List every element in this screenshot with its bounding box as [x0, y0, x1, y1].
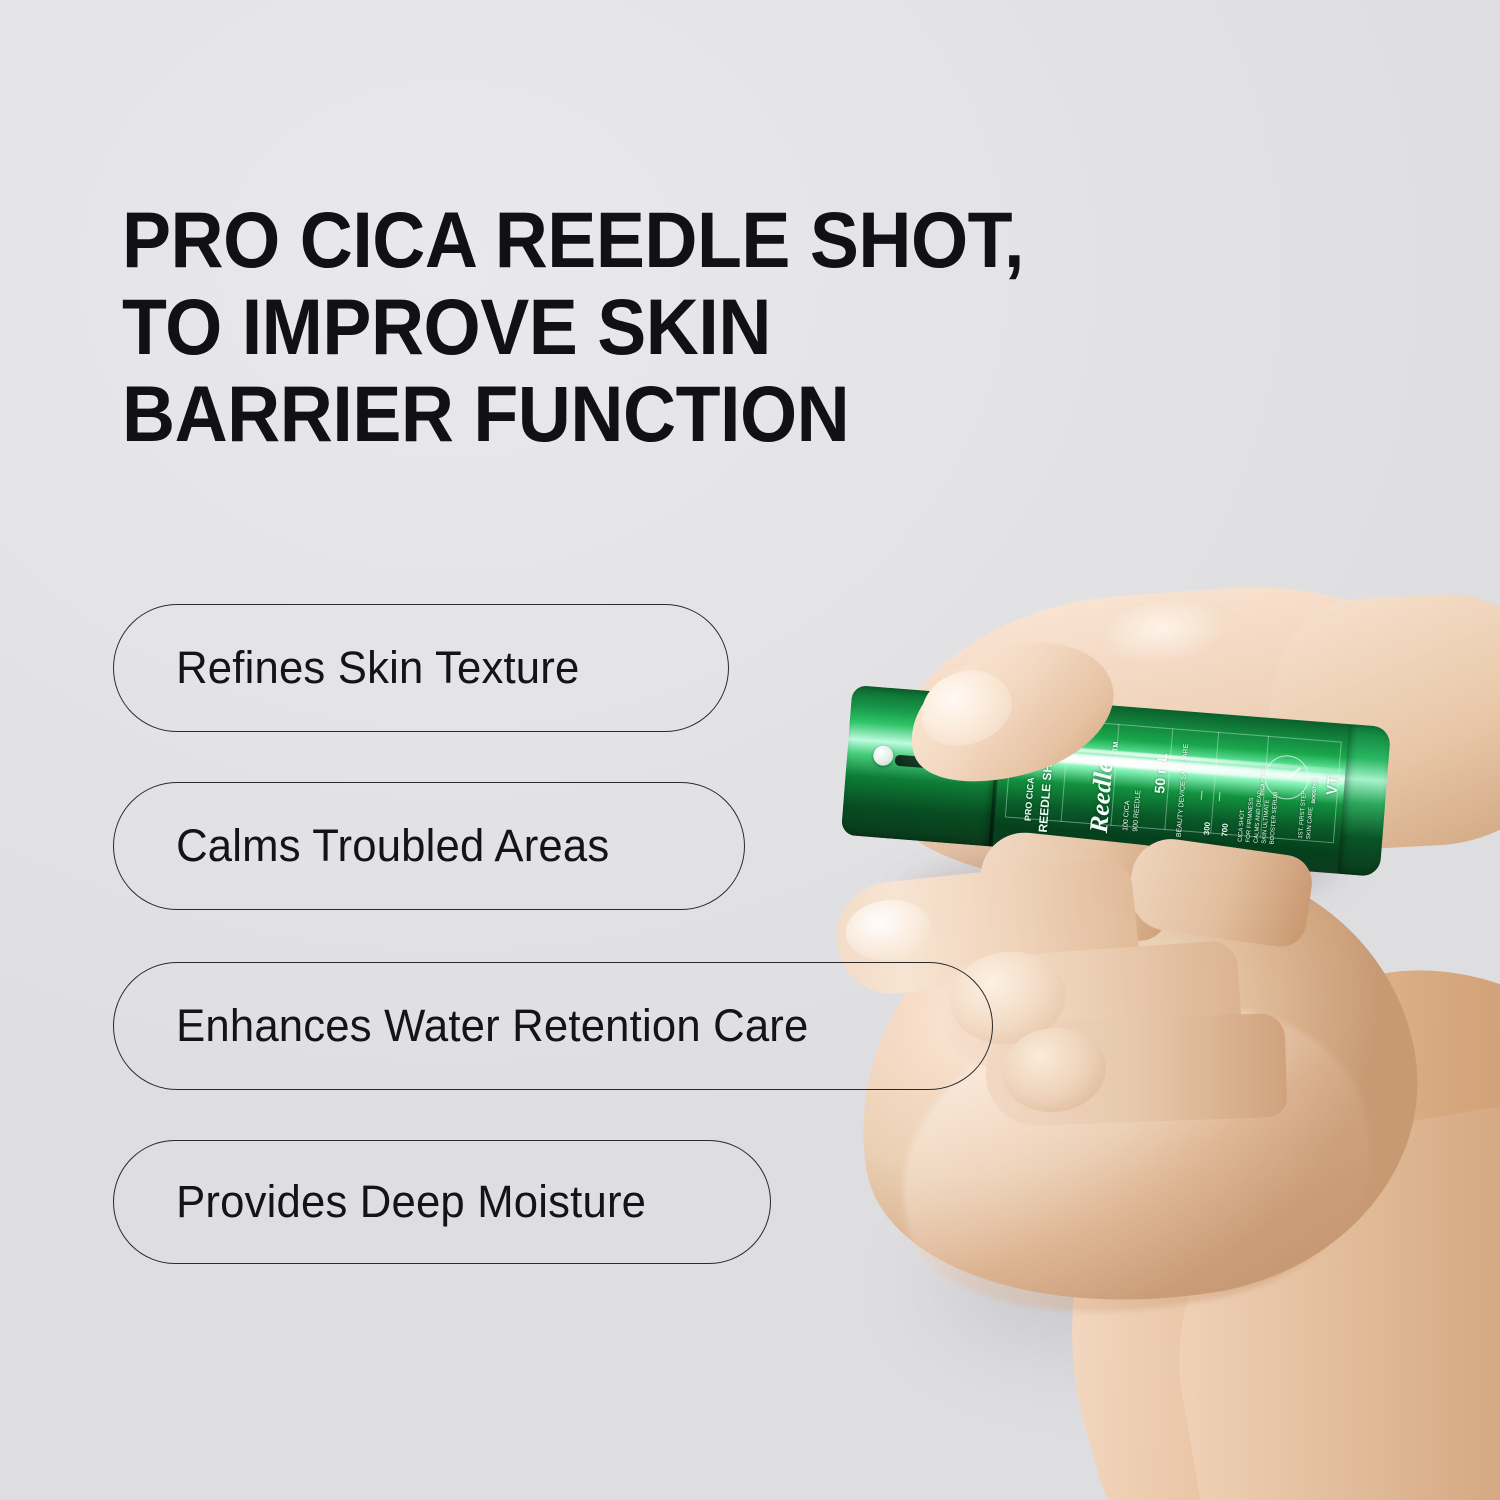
page-title: PRO CICA REEDLE SHOT, TO IMPROVE SKIN BA… — [122, 196, 1192, 457]
product-marketing-canvas: PRO CICA REEDLE SHOT Reedle TM 100 CICA … — [0, 0, 1500, 1500]
benefit-pill-enhances-water-retention-care: Enhances Water Retention Care — [113, 962, 993, 1090]
benefit-pill-label: Provides Deep Moisture — [114, 1176, 646, 1228]
benefit-pill-calms-troubled-areas: Calms Troubled Areas — [113, 782, 745, 910]
content-layer: PRO CICA REEDLE SHOT, TO IMPROVE SKIN BA… — [0, 0, 1500, 1500]
benefit-pill-label: Enhances Water Retention Care — [114, 1000, 809, 1052]
benefit-pill-provides-deep-moisture: Provides Deep Moisture — [113, 1140, 771, 1264]
benefit-pill-refines-skin-texture: Refines Skin Texture — [113, 604, 729, 732]
headline-line-1: PRO CICA REEDLE SHOT, — [122, 196, 1192, 283]
headline-line-3: BARRIER FUNCTION — [122, 370, 1192, 457]
benefit-pill-label: Calms Troubled Areas — [114, 820, 609, 872]
benefit-pill-label: Refines Skin Texture — [114, 642, 579, 694]
headline-line-2: TO IMPROVE SKIN — [122, 283, 1192, 370]
